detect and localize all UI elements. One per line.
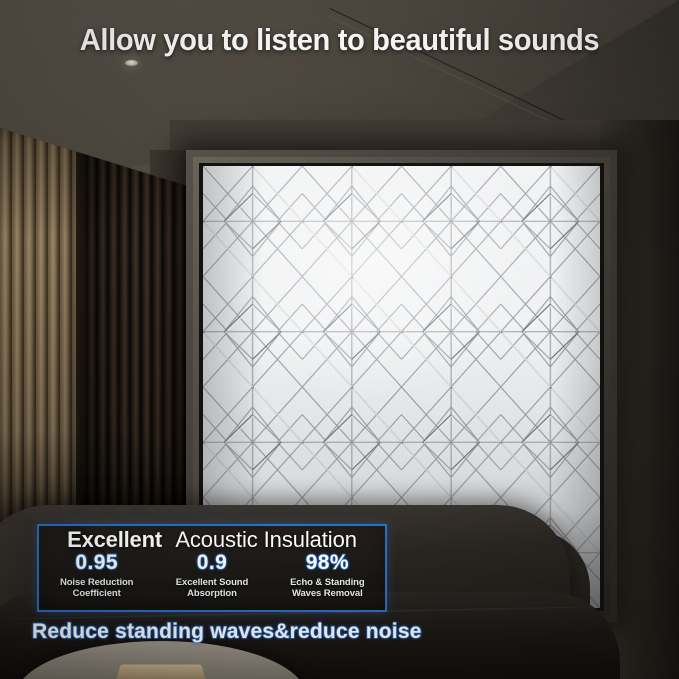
- stat-label-line2: Waves Removal: [292, 588, 363, 599]
- stats-columns: 0.95 Noise Reduction Coefficient 0.9 Exc…: [39, 552, 385, 599]
- stat-item-absorption: 0.9 Excellent Sound Absorption: [154, 552, 269, 599]
- wood-slat-acoustic-wall: [0, 128, 200, 548]
- slat-wall-shading: [0, 128, 200, 548]
- stats-title-light: Acoustic Insulation: [175, 527, 357, 552]
- stat-item-nrc: 0.95 Noise Reduction Coefficient: [39, 552, 154, 599]
- tagline: Reduce standing waves&reduce noise: [32, 620, 432, 644]
- stats-panel: Excellent Acoustic Insulation 0.95 Noise…: [37, 524, 387, 612]
- stat-label-line1: Excellent Sound: [176, 577, 248, 588]
- stat-item-echo: 98% Echo & Standing Waves Removal: [270, 552, 385, 599]
- stat-value: 98%: [270, 552, 385, 574]
- stats-panel-title: Excellent Acoustic Insulation: [39, 527, 385, 553]
- page-title: Allow you to listen to beautiful sounds: [20, 22, 658, 58]
- stat-label: Echo & Standing Waves Removal: [270, 577, 385, 599]
- product-marketing-image: Allow you to listen to beautiful sounds …: [0, 0, 679, 679]
- stat-value: 0.9: [154, 552, 269, 574]
- recessed-downlight-icon: [125, 60, 138, 66]
- stat-label-line1: Noise Reduction: [60, 577, 133, 588]
- stat-label-line2: Absorption: [187, 588, 237, 599]
- stat-label-line2: Coefficient: [73, 588, 121, 599]
- table-object: [115, 664, 207, 679]
- stat-value: 0.95: [39, 552, 154, 574]
- stat-label-line1: Echo & Standing: [290, 577, 365, 588]
- stat-label: Excellent Sound Absorption: [154, 577, 269, 599]
- stat-label: Noise Reduction Coefficient: [39, 577, 154, 599]
- stats-title-strong: Excellent: [67, 527, 162, 552]
